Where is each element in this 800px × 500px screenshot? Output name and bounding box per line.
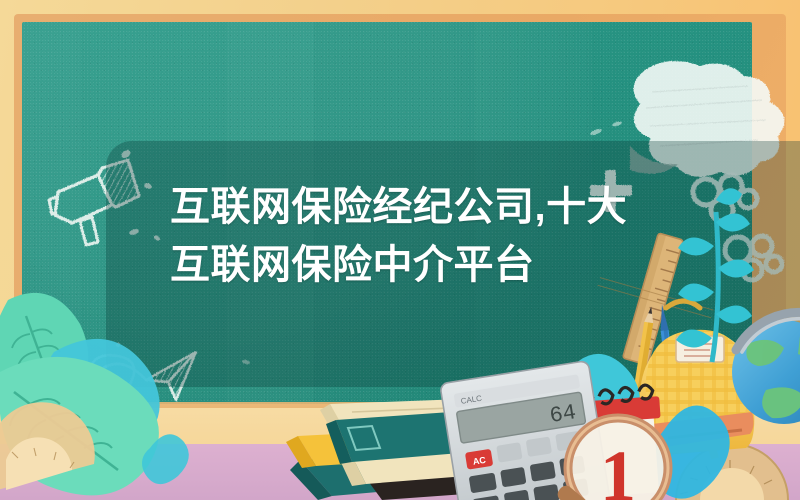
page-title: 互联网保险经纪公司,十大互联网保险中介平台: [170, 178, 690, 294]
desk-edge-line: [0, 402, 800, 408]
headline-line-2: 互联网保险中介平台: [170, 243, 535, 287]
headline-line-1: 互联网保险经纪公司,十大: [170, 185, 627, 229]
desk-surface-pink: [0, 444, 800, 500]
banner-image: 互联网保险经纪公司,十大互联网保险中介平台: [0, 0, 800, 500]
